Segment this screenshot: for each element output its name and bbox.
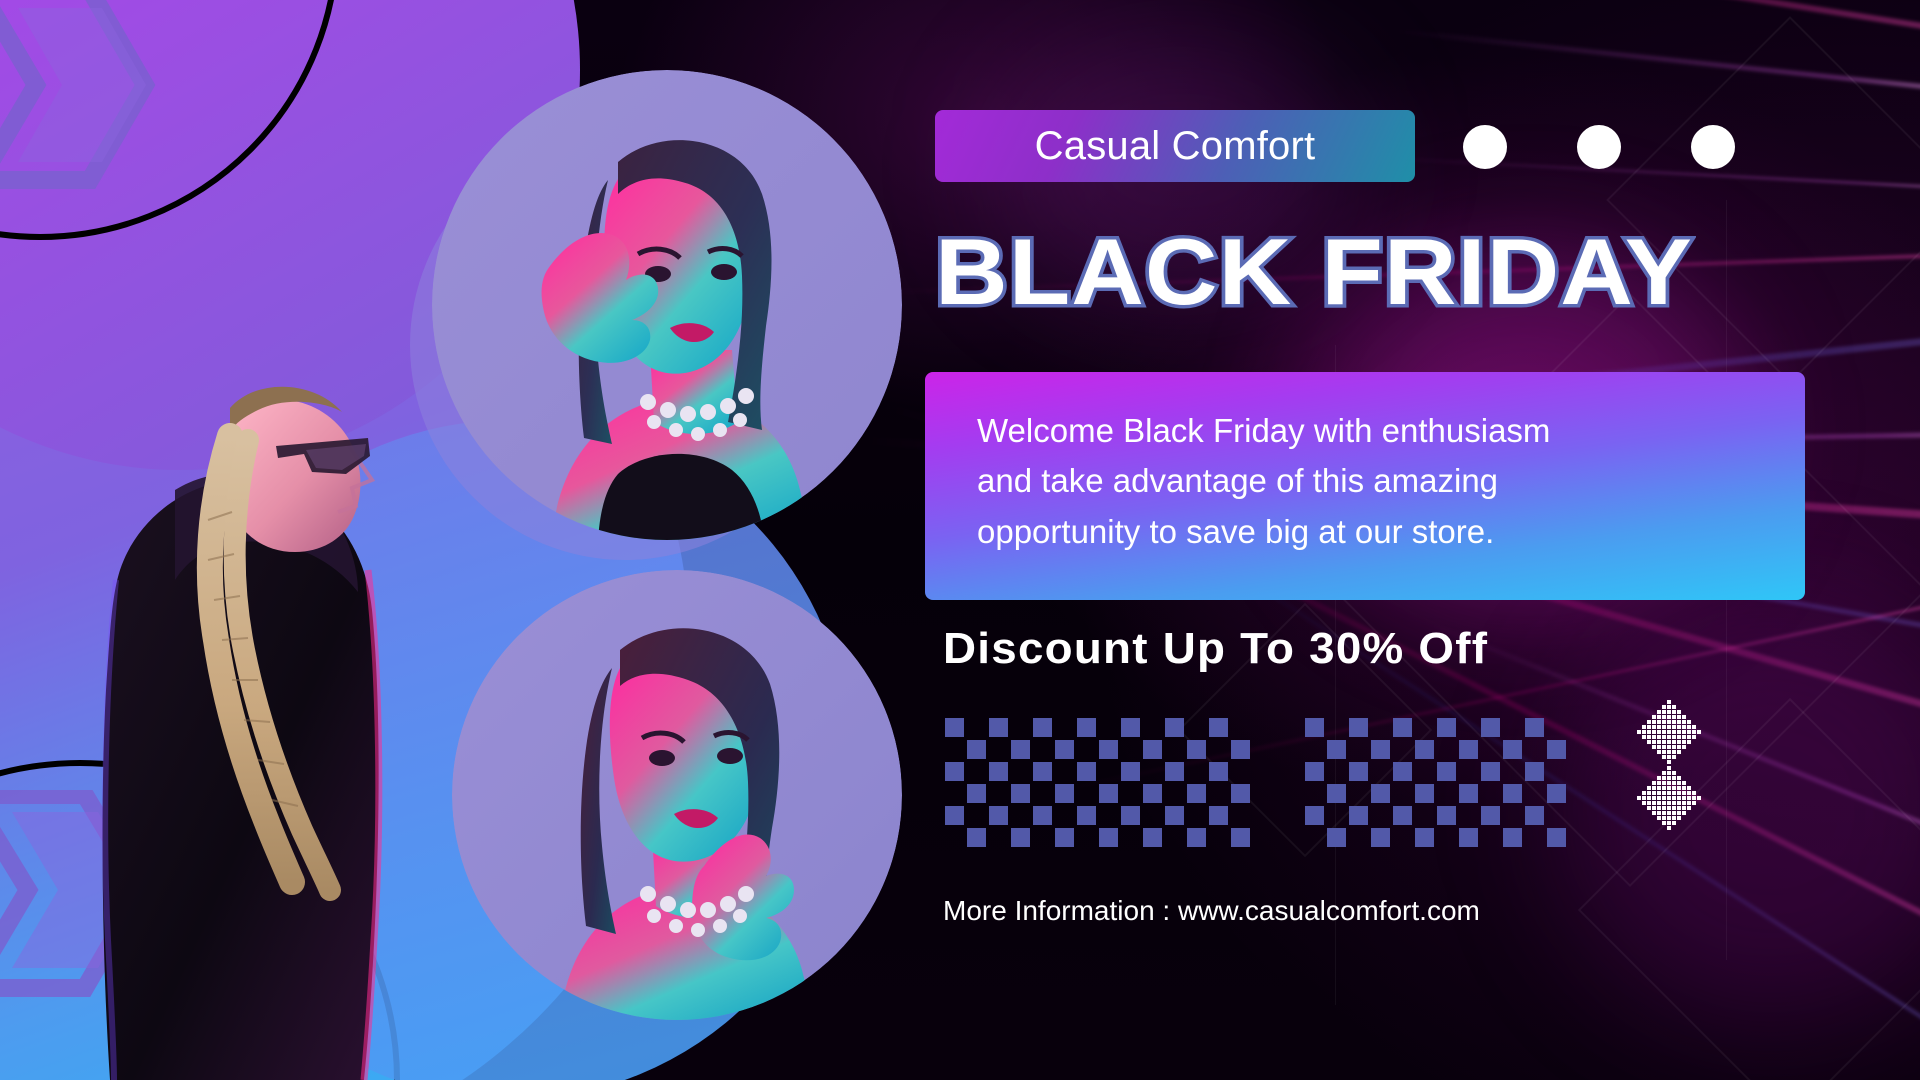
diamond-dot [1687, 740, 1691, 744]
checker-square [1165, 806, 1184, 825]
diamond-dot [1687, 786, 1691, 790]
diamond-dot [1662, 755, 1666, 759]
diamond-dot [1677, 796, 1681, 800]
diamond-dot [1682, 740, 1686, 744]
diamond-dot [1657, 816, 1661, 820]
diamond-dot [1682, 715, 1686, 719]
checker-square [1209, 762, 1228, 781]
diamond-dot [1647, 791, 1651, 795]
diamond-dot [1672, 806, 1676, 810]
checker-square [1437, 806, 1456, 825]
diamond-dot [1662, 740, 1666, 744]
diamond-dot [1677, 730, 1681, 734]
checker-square [1055, 828, 1074, 847]
diamond-dot [1652, 796, 1656, 800]
diamond-dot [1642, 801, 1646, 805]
diamond-dot [1662, 705, 1666, 709]
checker-square [989, 806, 1008, 825]
diamond-dot [1677, 715, 1681, 719]
diamond-dot [1657, 781, 1661, 785]
model-photo-bubble-top [432, 70, 902, 540]
checker-square [1011, 828, 1030, 847]
diamond-dot [1682, 725, 1686, 729]
diamond-dot [1687, 730, 1691, 734]
checker-square [1459, 740, 1478, 759]
diamond-dot [1667, 796, 1671, 800]
diamond-dot [1652, 720, 1656, 724]
diamond-dot [1667, 750, 1671, 754]
checker-square [1231, 740, 1250, 759]
checker-square [1099, 828, 1118, 847]
checker-square [967, 784, 986, 803]
diamond-dot [1667, 776, 1671, 780]
diamond-dot [1677, 720, 1681, 724]
diamond-dot [1662, 776, 1666, 780]
diamond-dot [1672, 725, 1676, 729]
checker-square [1165, 718, 1184, 737]
diamond-dot [1642, 791, 1646, 795]
checker-square [1437, 718, 1456, 737]
diamond-dot [1662, 791, 1666, 795]
checker-square [1415, 828, 1434, 847]
diamond-dot [1672, 750, 1676, 754]
checker-square [1393, 762, 1412, 781]
checker-square [1121, 762, 1140, 781]
diamond-dot [1657, 796, 1661, 800]
checker-square [1371, 784, 1390, 803]
diamond-dot [1667, 745, 1671, 749]
diamond-dot [1672, 705, 1676, 709]
diamond-dot [1657, 786, 1661, 790]
diamond-dot [1662, 801, 1666, 805]
diamond-dot [1677, 816, 1681, 820]
diamond-dot [1642, 725, 1646, 729]
diamond-dot [1667, 705, 1671, 709]
diamond-dot [1642, 796, 1646, 800]
diamond-dot [1677, 786, 1681, 790]
diamond-dot [1672, 796, 1676, 800]
diamond-dot [1687, 796, 1691, 800]
diamond-dot [1662, 715, 1666, 719]
checker-square [1121, 718, 1140, 737]
diamond-dot [1657, 811, 1661, 815]
diamond-dot [1647, 806, 1651, 810]
diamond-dot [1652, 786, 1656, 790]
diamond-dot [1652, 715, 1656, 719]
diamond-dot [1657, 735, 1661, 739]
diamond-dot [1667, 740, 1671, 744]
diamond-dot [1667, 816, 1671, 820]
diamond-dot [1667, 725, 1671, 729]
diamond-dot [1682, 801, 1686, 805]
diamond-dot [1692, 791, 1696, 795]
diamond-dot [1682, 806, 1686, 810]
checker-square [1503, 784, 1522, 803]
decorative-dot [1691, 125, 1735, 169]
diamond-dot [1667, 700, 1671, 704]
checker-square [967, 828, 986, 847]
checker-square [1077, 718, 1096, 737]
diamond-dot [1652, 781, 1656, 785]
checker-square [1327, 740, 1346, 759]
diamond-dot [1682, 745, 1686, 749]
checker-square [989, 718, 1008, 737]
checker-square [1143, 740, 1162, 759]
diamond-dot [1662, 710, 1666, 714]
diamond-dot [1667, 710, 1671, 714]
checker-square [1033, 806, 1052, 825]
diamond-dot [1672, 710, 1676, 714]
checker-square [1187, 828, 1206, 847]
diamond-dot [1677, 725, 1681, 729]
diamond-dot [1652, 725, 1656, 729]
diamond-dot [1667, 826, 1671, 830]
diamond-dot [1662, 816, 1666, 820]
checker-square [1077, 762, 1096, 781]
footer-info: More Information : www.casualcomfort.com [943, 895, 1480, 927]
diamond-dot [1667, 801, 1671, 805]
checker-square [1525, 718, 1544, 737]
checker-square [1459, 784, 1478, 803]
diamond-dot [1672, 786, 1676, 790]
checker-square [1393, 718, 1412, 737]
diamond-dot [1657, 745, 1661, 749]
diamond-dot [1677, 801, 1681, 805]
diamond-dot [1657, 720, 1661, 724]
model-photo-hooded [80, 240, 480, 1080]
decorative-dot [1463, 125, 1507, 169]
diamond-dot [1682, 781, 1686, 785]
diamond-dot [1672, 720, 1676, 724]
promo-paragraph-line: Welcome Black Friday with enthusiasm [977, 406, 1707, 456]
checker-square [967, 740, 986, 759]
diamond-dot [1662, 720, 1666, 724]
diamond-dot [1697, 796, 1701, 800]
checker-square [1437, 762, 1456, 781]
diamond-dot [1677, 740, 1681, 744]
diamond-dot [1662, 786, 1666, 790]
diamond-dot [1657, 806, 1661, 810]
diamond-dot [1687, 725, 1691, 729]
diamond-dot [1672, 801, 1676, 805]
diamond-dot [1667, 755, 1671, 759]
diamond-dot [1662, 806, 1666, 810]
diamond-dot [1667, 715, 1671, 719]
checker-square [1011, 740, 1030, 759]
checker-square [1525, 806, 1544, 825]
brand-badge[interactable]: Casual Comfort [935, 110, 1415, 182]
checker-square [1349, 762, 1368, 781]
diamond-dot [1647, 740, 1651, 744]
diamond-dot [1667, 781, 1671, 785]
checker-square [1481, 718, 1500, 737]
diamond-dot [1667, 791, 1671, 795]
checker-square [945, 806, 964, 825]
checker-square [1547, 828, 1566, 847]
diamond-dot [1662, 730, 1666, 734]
checker-square [1033, 718, 1052, 737]
diamond-dot [1647, 720, 1651, 724]
checker-square [1481, 806, 1500, 825]
checker-square [1143, 828, 1162, 847]
diamond-dot [1662, 821, 1666, 825]
diamond-dot [1642, 735, 1646, 739]
checker-square [1349, 806, 1368, 825]
diamond-dot [1667, 771, 1671, 775]
diamond-dot [1672, 771, 1676, 775]
diamond-dot [1662, 796, 1666, 800]
checker-square [1459, 828, 1478, 847]
diamond-dot [1682, 811, 1686, 815]
diamond-dot [1667, 735, 1671, 739]
diamond-dot [1667, 786, 1671, 790]
checker-square [1371, 828, 1390, 847]
diamond-dot [1687, 791, 1691, 795]
diamond-dot [1647, 735, 1651, 739]
diamond-dot [1657, 730, 1661, 734]
diamond-dot [1677, 811, 1681, 815]
promo-banner: Casual Comfort BLACK FRIDAY Welcome Blac… [0, 0, 1920, 1080]
diamond-dot [1657, 750, 1661, 754]
checker-square [1547, 784, 1566, 803]
diamond-dot [1697, 730, 1701, 734]
chevron-arrow-icon [0, 0, 200, 190]
checker-square [1371, 740, 1390, 759]
checker-pattern-left [945, 718, 1245, 828]
diamond-dot [1672, 735, 1676, 739]
diamond-dot [1682, 730, 1686, 734]
diamond-dot [1677, 776, 1681, 780]
diamond-dot [1657, 791, 1661, 795]
checker-square [1231, 784, 1250, 803]
diamond-dot [1667, 766, 1671, 770]
diamond-dot [1657, 776, 1661, 780]
checker-pattern-right [1305, 718, 1570, 828]
dotted-diamond-motif [1615, 700, 1725, 835]
diamond-dot [1682, 786, 1686, 790]
diamond-dot [1652, 811, 1656, 815]
diamond-dot [1637, 796, 1641, 800]
diamond-dot [1662, 771, 1666, 775]
checker-square [1327, 828, 1346, 847]
checker-square [1503, 740, 1522, 759]
diamond-dot [1667, 760, 1671, 764]
checker-square [1305, 806, 1324, 825]
diamond-dot [1677, 745, 1681, 749]
diamond-dot [1667, 720, 1671, 724]
checker-square [1305, 762, 1324, 781]
checker-square [1503, 828, 1522, 847]
brand-badge-label: Casual Comfort [1035, 124, 1316, 169]
diamond-dot [1677, 791, 1681, 795]
checker-square [1231, 828, 1250, 847]
promo-paragraph-line: and take advantage of this amazing [977, 456, 1707, 506]
checker-square [1099, 784, 1118, 803]
diamond-dot [1677, 781, 1681, 785]
diamond-dot [1672, 781, 1676, 785]
diamond-dot [1672, 791, 1676, 795]
diamond-dot [1652, 730, 1656, 734]
diamond-dot [1642, 730, 1646, 734]
diamond-dot [1692, 735, 1696, 739]
diamond-dot [1677, 710, 1681, 714]
diamond-dot [1677, 806, 1681, 810]
checker-square [1055, 740, 1074, 759]
diamond-dot [1687, 735, 1691, 739]
diamond-dot [1647, 786, 1651, 790]
decorative-dots [1463, 125, 1735, 169]
checker-square [1011, 784, 1030, 803]
diamond-dot [1662, 725, 1666, 729]
diamond-dot [1672, 715, 1676, 719]
checker-square [945, 718, 964, 737]
diamond-dot [1692, 730, 1696, 734]
checker-square [1099, 740, 1118, 759]
checker-square [1481, 762, 1500, 781]
diamond-dot [1682, 720, 1686, 724]
diamond-dot [1652, 740, 1656, 744]
diamond-dot [1687, 720, 1691, 724]
decorative-dot [1577, 125, 1621, 169]
content-column: Casual Comfort BLACK FRIDAY Welcome Blac… [935, 0, 1815, 1080]
checker-square [1033, 762, 1052, 781]
checker-square [1327, 784, 1346, 803]
model-photo-bubble-bottom [452, 570, 902, 1020]
diamond-dot [1647, 801, 1651, 805]
diamond-dot [1672, 755, 1676, 759]
checker-square [1165, 762, 1184, 781]
checker-square [1415, 740, 1434, 759]
checker-square [1055, 784, 1074, 803]
diamond-dot [1672, 811, 1676, 815]
diamond-dot [1652, 735, 1656, 739]
checker-square [1305, 718, 1324, 737]
diamond-dot [1687, 801, 1691, 805]
diamond-dot [1662, 745, 1666, 749]
checker-square [1415, 784, 1434, 803]
diamond-dot [1657, 710, 1661, 714]
diamond-dot [1672, 740, 1676, 744]
checker-square [1525, 762, 1544, 781]
checker-square [1187, 740, 1206, 759]
promo-paragraph-box: Welcome Black Friday with enthusiasm and… [925, 372, 1805, 600]
diamond-dot [1667, 730, 1671, 734]
diamond-dot [1657, 715, 1661, 719]
checker-square [1209, 718, 1228, 737]
diamond-dot [1657, 725, 1661, 729]
checker-square [1143, 784, 1162, 803]
diamond-dot [1667, 806, 1671, 810]
diamond-dot [1662, 750, 1666, 754]
diamond-dot [1692, 796, 1696, 800]
diamond-dot [1677, 750, 1681, 754]
checker-square [1187, 784, 1206, 803]
diamond-dot [1662, 781, 1666, 785]
diamond-dot [1672, 816, 1676, 820]
diamond-dot [1672, 745, 1676, 749]
checker-square [1121, 806, 1140, 825]
checker-square [1349, 718, 1368, 737]
diamond-dot [1692, 801, 1696, 805]
diamond-dot [1672, 730, 1676, 734]
diamond-dot [1652, 745, 1656, 749]
diamond-dot [1637, 730, 1641, 734]
checker-square [1077, 806, 1096, 825]
promo-paragraph-line: opportunity to save big at our store. [977, 507, 1707, 557]
diamond-dot [1667, 821, 1671, 825]
diamond-dot [1672, 821, 1676, 825]
diamond-dot [1652, 806, 1656, 810]
diamond-dot [1692, 725, 1696, 729]
checker-square [989, 762, 1008, 781]
diamond-dot [1677, 735, 1681, 739]
diamond-dot [1687, 806, 1691, 810]
diamond-dot [1662, 811, 1666, 815]
diamond-dot [1682, 791, 1686, 795]
diamond-dot [1652, 801, 1656, 805]
diamond-dot [1652, 791, 1656, 795]
discount-headline: Discount Up To 30% Off [943, 624, 1488, 674]
diamond-dot [1662, 735, 1666, 739]
diamond-dot [1682, 796, 1686, 800]
checker-square [945, 762, 964, 781]
diamond-dot [1647, 796, 1651, 800]
checker-square [1209, 806, 1228, 825]
diamond-dot [1682, 735, 1686, 739]
diamond-dot [1657, 801, 1661, 805]
checker-square [1547, 740, 1566, 759]
diamond-dot [1672, 776, 1676, 780]
diamond-dot [1647, 725, 1651, 729]
checker-square [1393, 806, 1412, 825]
diamond-dot [1657, 740, 1661, 744]
page-title: BLACK FRIDAY [935, 225, 1855, 319]
diamond-dot [1647, 730, 1651, 734]
diamond-dot [1667, 811, 1671, 815]
